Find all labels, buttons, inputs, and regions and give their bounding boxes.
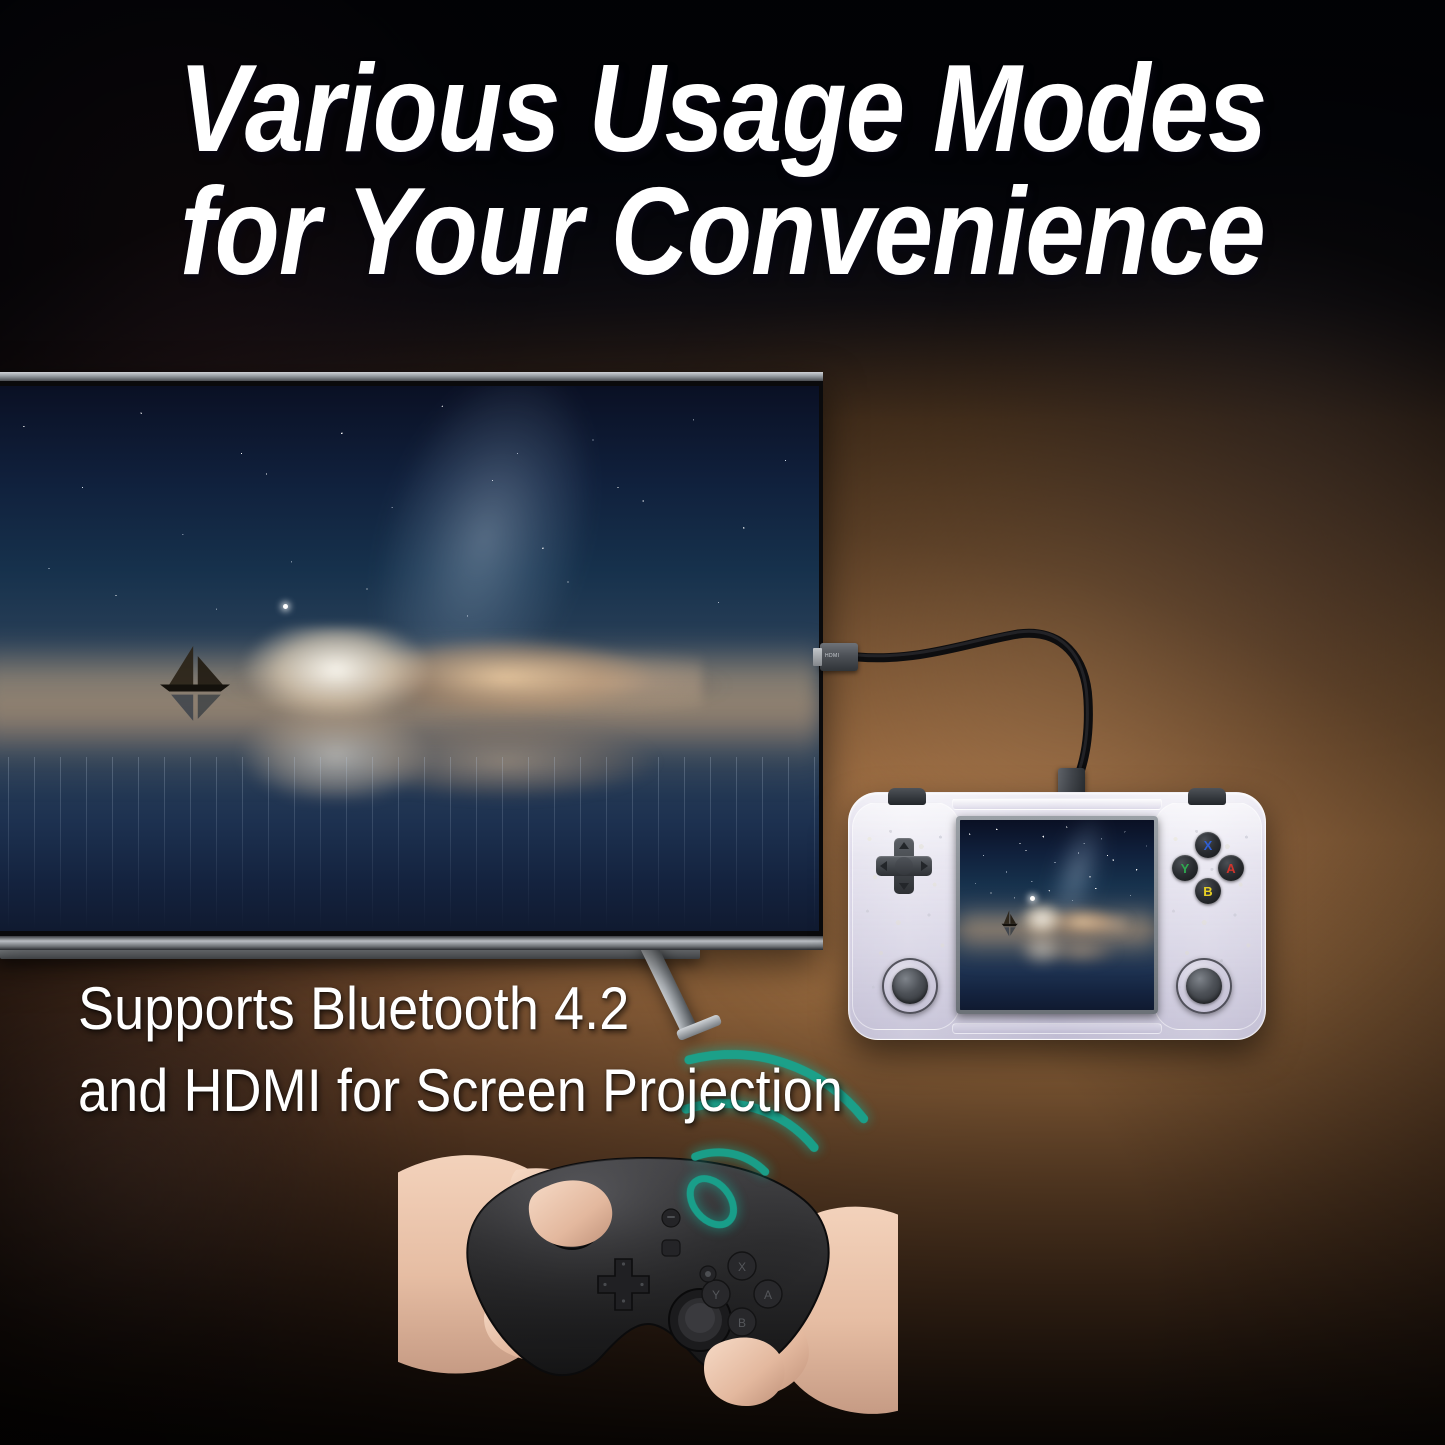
face-button-b[interactable]: B [1195, 878, 1221, 904]
scene-bright-star [1030, 896, 1035, 901]
subtitle: Supports Bluetooth 4.2 and HDMI for Scre… [78, 968, 978, 1131]
face-button-x[interactable]: X [1195, 832, 1221, 858]
tv-screen-scene [0, 386, 819, 931]
dpad-down-arrow-icon[interactable] [899, 883, 909, 890]
right-thumb [704, 1338, 785, 1406]
svg-text:X: X [738, 1260, 746, 1274]
face-button-b-label: B [1203, 884, 1212, 899]
tv-bottom-bezel [0, 936, 823, 950]
subtitle-line-1: Supports Bluetooth 4.2 [78, 968, 978, 1050]
scene-sailboat [999, 910, 1020, 935]
left-shoulder-button[interactable] [888, 788, 926, 805]
hdmi-connector-tv: HDMI [820, 643, 858, 671]
right-analog-stick[interactable] [1176, 958, 1232, 1014]
dpad[interactable] [876, 838, 932, 894]
face-button-y[interactable]: Y [1172, 855, 1198, 881]
right-analog-stick-cap [1186, 968, 1222, 1004]
dpad-center [895, 857, 913, 875]
scene-sailboat [149, 645, 241, 716]
television-display [0, 372, 823, 950]
headline-line-1: Various Usage Modes [101, 48, 1344, 171]
product-feature-graphic: Various Usage Modes for Your Convenience [0, 0, 1445, 1445]
handheld-screen [960, 820, 1154, 1010]
dpad-right-arrow-icon[interactable] [921, 861, 928, 871]
hdmi-connector-tv-label: HDMI [825, 653, 839, 659]
face-button-cluster[interactable]: X Y A B [1172, 832, 1244, 904]
face-button-y-label: Y [1181, 861, 1190, 876]
scene-reflection-haze [960, 930, 1154, 960]
headline-line-2: for Your Convenience [101, 171, 1344, 294]
handheld-screen-frame [956, 816, 1158, 1014]
right-shoulder-button[interactable] [1188, 788, 1226, 805]
headline: Various Usage Modes for Your Convenience [101, 48, 1344, 294]
svg-text:Y: Y [712, 1288, 720, 1302]
subtitle-line-2: and HDMI for Screen Projection [78, 1050, 978, 1132]
handheld-screen-scene [960, 820, 1154, 1010]
sailboat-icon [999, 910, 1020, 935]
scene-water-streaks [0, 757, 819, 931]
face-button-x-label: X [1204, 838, 1213, 853]
dpad-left-arrow-icon[interactable] [880, 861, 887, 871]
handheld-bottom-rail [952, 1023, 1162, 1034]
svg-text:B: B [738, 1316, 746, 1330]
tv-screen [0, 386, 819, 931]
handheld-top-rail [952, 798, 1162, 810]
sailboat-icon [149, 645, 241, 716]
face-button-a[interactable]: A [1218, 855, 1244, 881]
dpad-up-arrow-icon[interactable] [899, 842, 909, 849]
tv-top-bezel [0, 372, 823, 381]
svg-text:A: A [764, 1288, 772, 1302]
face-button-a-label: A [1226, 861, 1235, 876]
tv-bezel [0, 381, 823, 936]
